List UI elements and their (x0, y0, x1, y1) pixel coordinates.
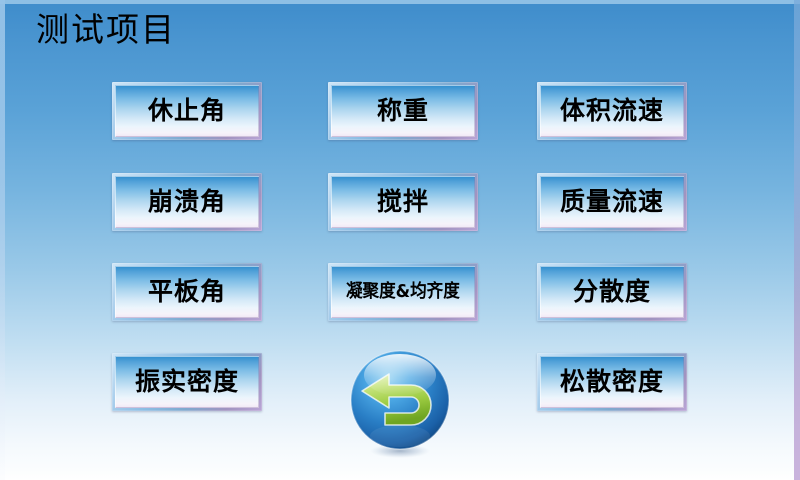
window-frame-left (0, 0, 5, 480)
menu-button-cohesion-and-uniformity[interactable]: 凝聚度&均齐度 (328, 263, 478, 321)
menu-button-loose-density[interactable]: 松散密度 (537, 353, 687, 411)
button-face: 凝聚度&均齐度 (331, 266, 475, 318)
menu-button-label: 平板角 (148, 278, 226, 306)
button-face: 体积流速 (540, 85, 684, 137)
menu-button-angle-of-repose[interactable]: 休止角 (112, 82, 262, 140)
window-frame-top (0, 0, 800, 4)
menu-button-label: 体积流速 (560, 97, 664, 125)
menu-button-label: 崩溃角 (148, 188, 226, 216)
menu-button-mass-flow-rate[interactable]: 质量流速 (537, 173, 687, 231)
menu-button-label: 搅拌 (377, 188, 429, 216)
menu-button-tapped-density[interactable]: 振实密度 (112, 353, 262, 411)
menu-button-angle-of-collapse[interactable]: 崩溃角 (112, 173, 262, 231)
menu-button-label: 称重 (377, 97, 429, 125)
button-face: 质量流速 (540, 176, 684, 228)
menu-button-flat-plate-angle[interactable]: 平板角 (112, 263, 262, 321)
button-face: 平板角 (115, 266, 259, 318)
app-screen: 测试项目 休止角 称重 体积流速 崩溃角 搅拌 质量流速 平板角 (0, 0, 800, 480)
page-title: 测试项目 (36, 10, 176, 50)
menu-button-label: 休止角 (148, 97, 226, 125)
menu-button-weighing[interactable]: 称重 (328, 82, 478, 140)
button-face: 振实密度 (115, 356, 259, 408)
back-arrow-icon (345, 348, 455, 458)
menu-button-label: 振实密度 (135, 368, 239, 396)
button-face: 崩溃角 (115, 176, 259, 228)
menu-button-label: 松散密度 (560, 368, 664, 396)
button-face: 分散度 (540, 266, 684, 318)
menu-button-dispersibility[interactable]: 分散度 (537, 263, 687, 321)
button-face: 休止角 (115, 85, 259, 137)
button-face: 称重 (331, 85, 475, 137)
menu-button-label: 分散度 (573, 278, 651, 306)
button-face: 搅拌 (331, 176, 475, 228)
menu-button-label: 凝聚度&均齐度 (346, 282, 460, 302)
menu-button-stirring[interactable]: 搅拌 (328, 173, 478, 231)
menu-button-label: 质量流速 (560, 188, 664, 216)
menu-button-volume-flow-rate[interactable]: 体积流速 (537, 82, 687, 140)
window-frame-right (794, 0, 800, 480)
button-face: 松散密度 (540, 356, 684, 408)
back-button[interactable] (345, 348, 455, 458)
